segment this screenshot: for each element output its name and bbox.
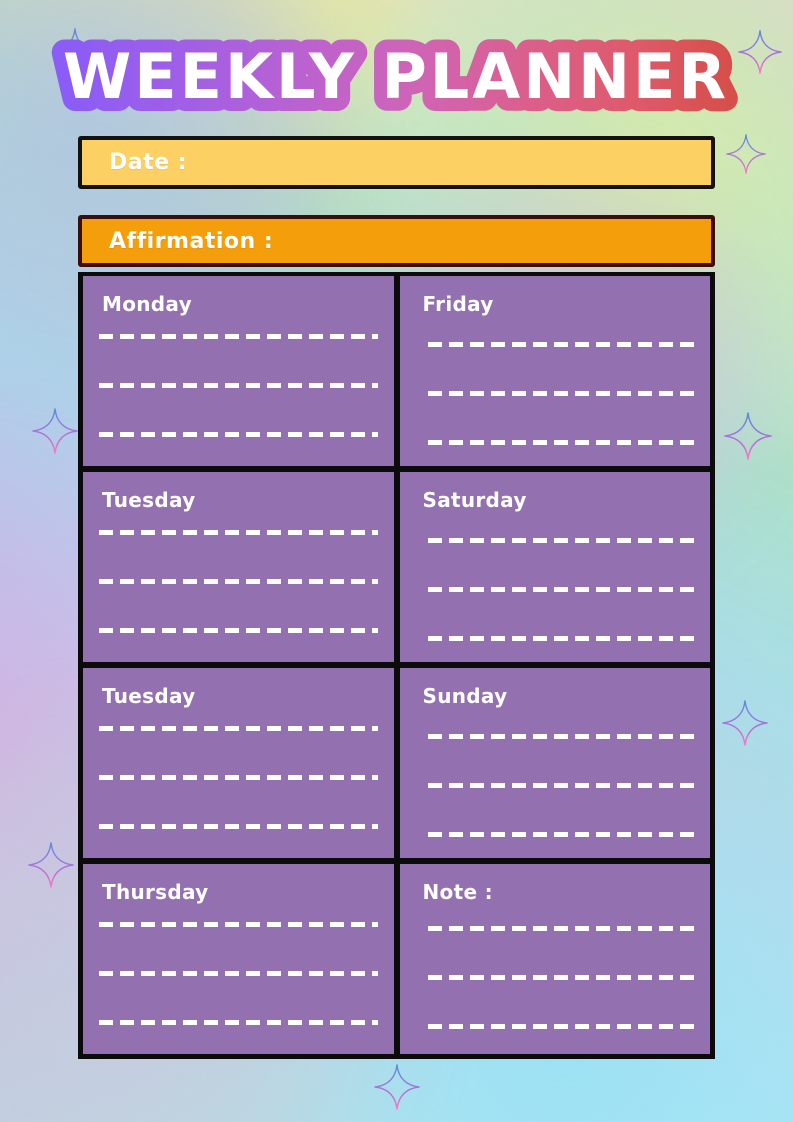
dashed-line[interactable]	[428, 926, 697, 931]
dashed-line[interactable]	[428, 391, 697, 396]
day-label: Monday	[102, 292, 375, 316]
dashed-line[interactable]	[99, 628, 378, 633]
day-label: Tuesday	[102, 488, 375, 512]
day-cell-friday[interactable]: Friday	[400, 276, 711, 466]
dashed-line[interactable]	[428, 636, 697, 641]
affirmation-label: Affirmation :	[109, 229, 273, 254]
day-grid: Monday Friday Tuesday	[78, 272, 715, 1059]
dashed-line[interactable]	[99, 579, 378, 584]
page-title: WEEKLY PLANNER	[0, 24, 793, 132]
note-cell[interactable]: Note :	[400, 864, 711, 1054]
dashed-line[interactable]	[99, 530, 378, 535]
dashed-line[interactable]	[428, 342, 697, 347]
writing-lines[interactable]	[83, 530, 394, 662]
day-label: Sunday	[423, 684, 692, 708]
dashed-line[interactable]	[99, 334, 378, 339]
dashed-line[interactable]	[428, 440, 697, 445]
date-label: Date :	[109, 150, 187, 175]
dashed-line[interactable]	[428, 538, 697, 543]
day-cell-wednesday[interactable]: Tuesday	[83, 668, 394, 858]
planner-sheet: Date : Affirmation : Monday Friday	[78, 136, 715, 1059]
dashed-line[interactable]	[428, 783, 697, 788]
day-cell-tuesday[interactable]: Tuesday	[83, 472, 394, 662]
dashed-line[interactable]	[428, 975, 697, 980]
dashed-line[interactable]	[428, 734, 697, 739]
affirmation-field[interactable]: Affirmation :	[78, 215, 715, 267]
dashed-line[interactable]	[428, 587, 697, 592]
dashed-line[interactable]	[99, 922, 378, 927]
writing-lines[interactable]	[400, 734, 711, 858]
writing-lines[interactable]	[83, 334, 394, 466]
day-cell-sunday[interactable]: Sunday	[400, 668, 711, 858]
note-label: Note :	[423, 880, 692, 904]
dashed-line[interactable]	[428, 832, 697, 837]
dashed-line[interactable]	[99, 775, 378, 780]
day-cell-saturday[interactable]: Saturday	[400, 472, 711, 662]
day-cell-monday[interactable]: Monday	[83, 276, 394, 466]
dashed-line[interactable]	[99, 824, 378, 829]
writing-lines[interactable]	[400, 538, 711, 662]
day-cell-thursday[interactable]: Thursday	[83, 864, 394, 1054]
day-label: Thursday	[102, 880, 375, 904]
dashed-line[interactable]	[99, 971, 378, 976]
day-label: Friday	[423, 292, 692, 316]
dashed-line[interactable]	[99, 726, 378, 731]
dashed-line[interactable]	[99, 383, 378, 388]
writing-lines[interactable]	[400, 926, 711, 1054]
date-field[interactable]: Date :	[78, 136, 715, 189]
dashed-line[interactable]	[99, 1020, 378, 1025]
day-label: Saturday	[423, 488, 692, 512]
day-label: Tuesday	[102, 684, 375, 708]
dashed-line[interactable]	[99, 432, 378, 437]
writing-lines[interactable]	[83, 922, 394, 1054]
writing-lines[interactable]	[400, 342, 711, 466]
page-title-text: WEEKLY PLANNER	[63, 40, 729, 113]
dashed-line[interactable]	[428, 1024, 697, 1029]
planner-page: WEEKLY PLANNER Date : Affirmation : Mond…	[0, 0, 793, 1122]
writing-lines[interactable]	[83, 726, 394, 858]
